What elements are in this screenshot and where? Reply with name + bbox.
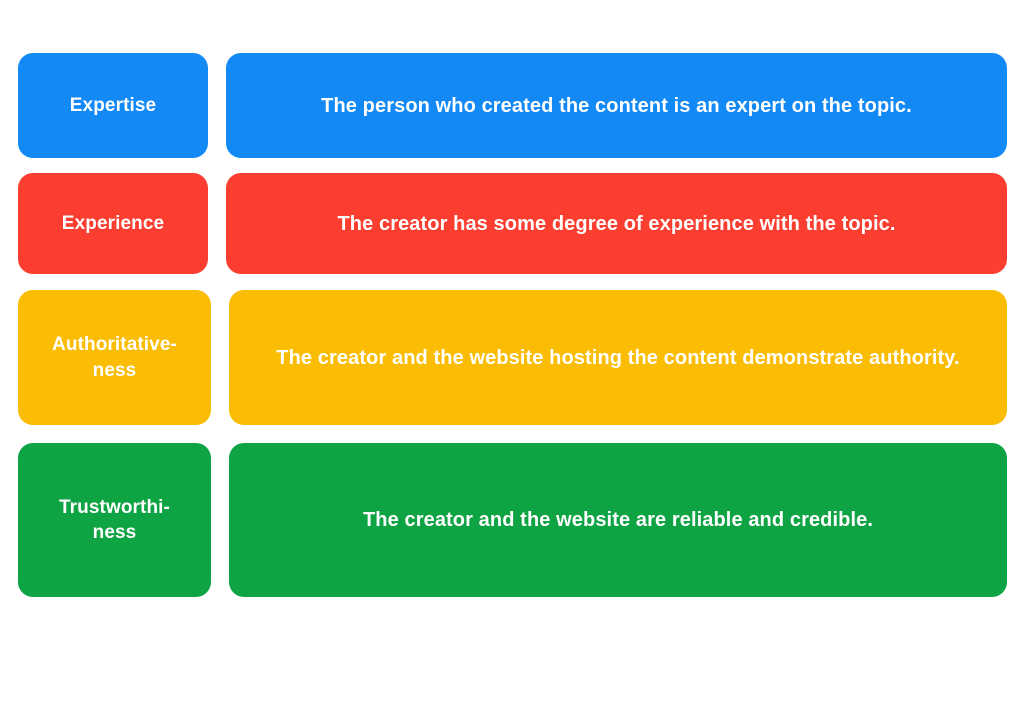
criteria-label-text: Expertise: [70, 93, 156, 118]
criteria-label-text: Experience: [62, 211, 164, 236]
criteria-row: Expertise The person who created the con…: [0, 53, 1024, 158]
criteria-label-text: Trustworthi- ness: [59, 495, 170, 545]
criteria-label-card-expertise[interactable]: Expertise: [18, 53, 208, 158]
criteria-row: Authoritative- ness The creator and the …: [0, 290, 1024, 425]
criteria-description-text: The creator has some degree of experienc…: [337, 211, 895, 237]
criteria-description-text: The creator and the website are reliable…: [363, 507, 873, 533]
criteria-description-text: The person who created the content is an…: [321, 93, 912, 119]
criteria-row: Experience The creator has some degree o…: [0, 173, 1024, 274]
eeat-criteria-board: Expertise The person who created the con…: [0, 53, 1024, 703]
criteria-label-card-trustworthiness[interactable]: Trustworthi- ness: [18, 443, 211, 597]
criteria-description-card-authoritativeness[interactable]: The creator and the website hosting the …: [229, 290, 1007, 425]
criteria-label-card-experience[interactable]: Experience: [18, 173, 208, 274]
criteria-description-card-expertise[interactable]: The person who created the content is an…: [226, 53, 1007, 158]
criteria-description-card-trustworthiness[interactable]: The creator and the website are reliable…: [229, 443, 1007, 597]
criteria-description-text: The creator and the website hosting the …: [276, 345, 959, 371]
criteria-description-card-experience[interactable]: The creator has some degree of experienc…: [226, 173, 1007, 274]
criteria-row: Trustworthi- ness The creator and the we…: [0, 443, 1024, 597]
criteria-label-card-authoritativeness[interactable]: Authoritative- ness: [18, 290, 211, 425]
criteria-label-text: Authoritative- ness: [52, 332, 177, 382]
